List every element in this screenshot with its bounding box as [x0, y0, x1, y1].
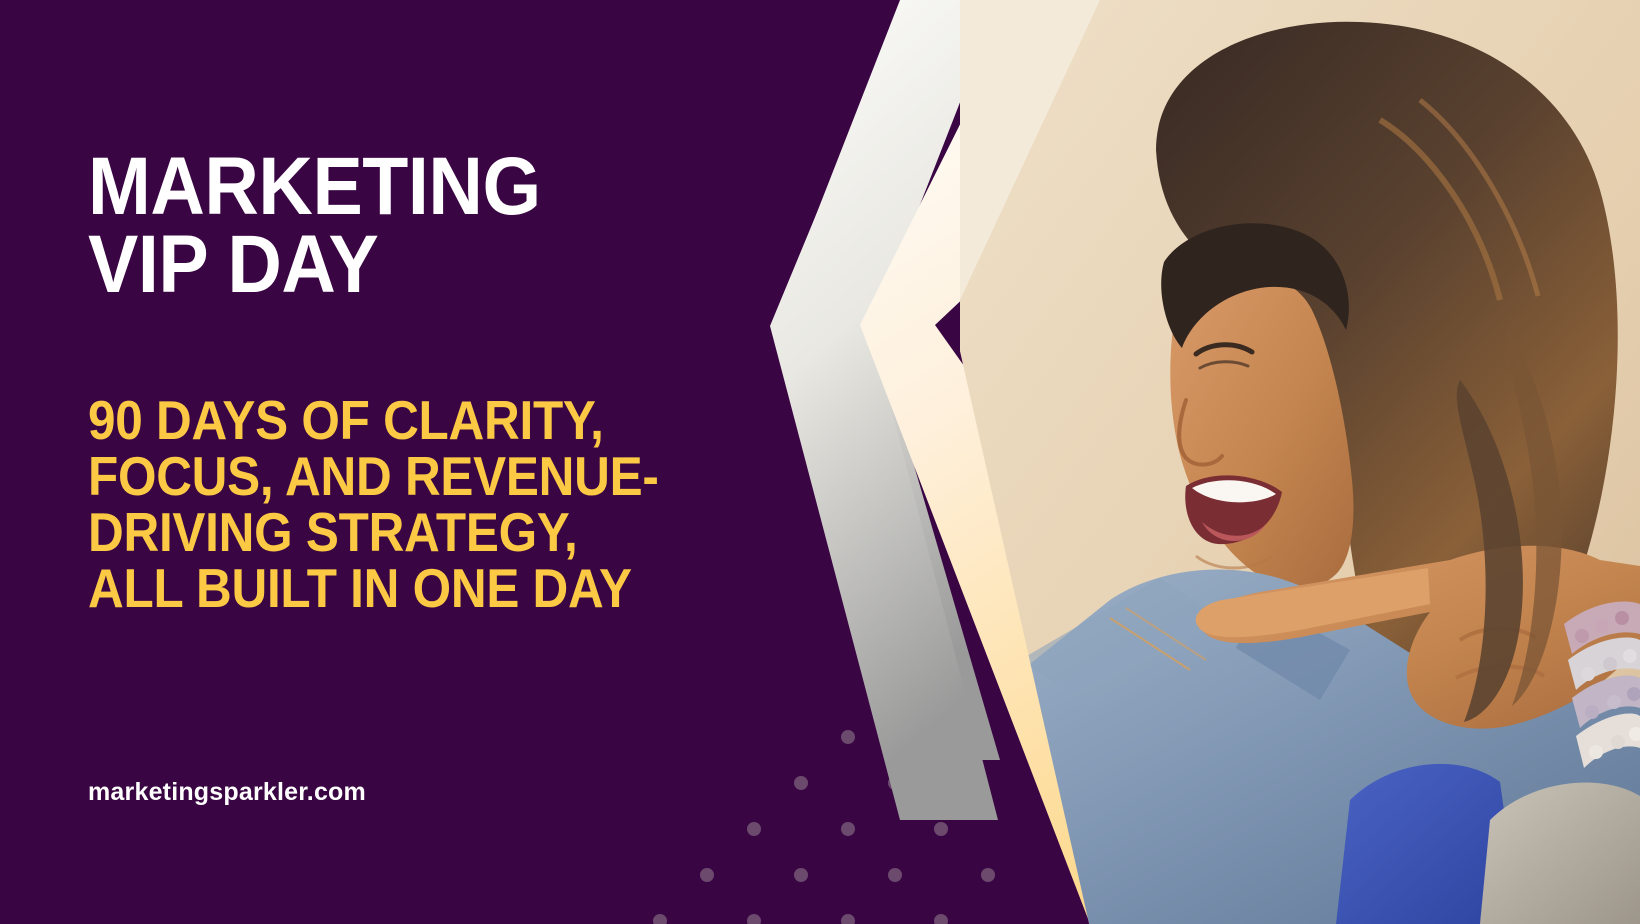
- page-title: MARKETING VIP DAY: [88, 148, 541, 304]
- marketing-banner: MARKETING VIP DAY 90 DAYS OF CLARITY, FO…: [0, 0, 1640, 924]
- subtitle: 90 DAYS OF CLARITY, FOCUS, AND REVENUE- …: [88, 392, 659, 616]
- portrait-photo: [960, 0, 1640, 924]
- text-content: MARKETING VIP DAY 90 DAYS OF CLARITY, FO…: [0, 0, 840, 924]
- website-url[interactable]: marketingsparkler.com: [88, 778, 366, 807]
